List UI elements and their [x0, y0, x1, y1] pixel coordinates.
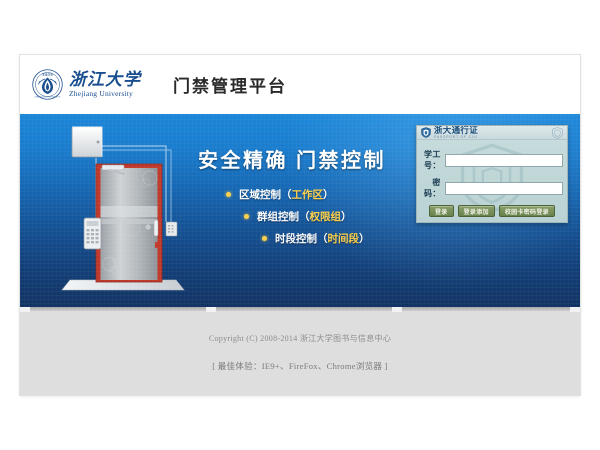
- login-panel: 浙大通行证 PASSPORT OF ZJU PASSPORT OF ZJU PA…: [416, 125, 568, 223]
- site-footer: Copyright (C) 2008-2014 浙江大学图书与信息中心 [ 最佳…: [20, 308, 580, 395]
- passport-titles: 浙大通行证 PASSPORT OF ZJU: [434, 126, 478, 139]
- logo-wordmark: 浙江大学 Zhejiang University: [69, 71, 141, 98]
- userid-label: 学工号：: [424, 149, 441, 171]
- login-button[interactable]: 登录: [429, 205, 454, 217]
- login-panel-title: 浙大通行证: [434, 126, 478, 135]
- footer-notch: [206, 307, 216, 312]
- feature-text: 群组控制（: [257, 209, 310, 224]
- shield-icon: [421, 127, 431, 138]
- feature-tail: ）: [323, 187, 334, 202]
- feature-highlight: 时间段: [328, 231, 360, 246]
- university-logo[interactable]: 求是创新 ZHEJIANG UNIVERSITY 浙江大学 Zhejiang U…: [32, 69, 141, 100]
- password-label: 密 码：: [424, 177, 441, 199]
- hero-text-block: 安全精确 门禁控制 区域控制（工作区） 群组控制（权限组） 时段控制（时间段）: [198, 144, 423, 253]
- feature-item-group: 群组控制（权限组）: [198, 209, 423, 224]
- footer-notch: [20, 307, 30, 312]
- footer-notch: [570, 307, 580, 312]
- login-add-button[interactable]: 登录添加: [458, 205, 495, 217]
- browser-compatibility-note: [ 最佳体验：IE9+、FireFox、Chrome浏览器 ]: [212, 360, 388, 372]
- bullet-dot-icon: [244, 214, 249, 219]
- campus-card-login-button[interactable]: 校园卡密码登录: [499, 205, 555, 217]
- copyright-text: Copyright (C) 2008-2014 浙江大学图书与信息中心: [209, 333, 391, 344]
- feature-item-timeslot: 时段控制（时间段）: [198, 231, 423, 246]
- door-access-control-illustration: [54, 120, 204, 308]
- logo-english-name: Zhejiang University: [69, 90, 141, 98]
- bullet-dot-icon: [226, 192, 231, 197]
- login-panel-header: 浙大通行证 PASSPORT OF ZJU: [417, 126, 567, 140]
- feature-tail: ）: [341, 209, 352, 224]
- feature-highlight: 权限组: [310, 209, 342, 224]
- bullet-dot-icon: [262, 236, 267, 241]
- password-field-row: 密 码：: [424, 177, 560, 199]
- login-form: 学工号： 密 码： 登录 登录添加 校园卡密码登录: [417, 140, 567, 223]
- userid-field-row: 学工号：: [424, 149, 560, 171]
- page-title: 门禁管理平台: [173, 72, 287, 97]
- shield-watermark-icon: [552, 127, 563, 139]
- login-panel-subtitle: PASSPORT OF ZJU: [434, 136, 478, 140]
- hero-slogan: 安全精确 门禁控制: [198, 144, 423, 173]
- hero-banner: 安全精确 门禁控制 区域控制（工作区） 群组控制（权限组） 时段控制（时间段）: [20, 114, 580, 308]
- feature-text: 时段控制（: [275, 231, 328, 246]
- hero-feature-list: 区域控制（工作区） 群组控制（权限组） 时段控制（时间段）: [198, 187, 423, 246]
- logo-chinese-name: 浙江大学: [69, 71, 141, 88]
- footer-divider: [20, 307, 580, 311]
- zju-seal-icon: 求是创新 ZHEJIANG UNIVERSITY: [32, 69, 63, 100]
- login-button-row: 登录 登录添加 校园卡密码登录: [424, 205, 560, 217]
- site-header: 求是创新 ZHEJIANG UNIVERSITY 浙江大学 Zhejiang U…: [20, 55, 580, 114]
- footer-notch: [392, 307, 402, 312]
- password-input[interactable]: [445, 182, 563, 195]
- svg-text:求是创新: 求是创新: [42, 73, 53, 77]
- feature-highlight: 工作区: [292, 187, 324, 202]
- feature-tail: ）: [359, 231, 370, 246]
- passport-brand: 浙大通行证 PASSPORT OF ZJU: [421, 126, 478, 139]
- feature-text: 区域控制（: [239, 187, 292, 202]
- page-frame: 求是创新 ZHEJIANG UNIVERSITY 浙江大学 Zhejiang U…: [20, 55, 580, 395]
- feature-item-area: 区域控制（工作区）: [198, 187, 423, 202]
- userid-input[interactable]: [445, 154, 563, 167]
